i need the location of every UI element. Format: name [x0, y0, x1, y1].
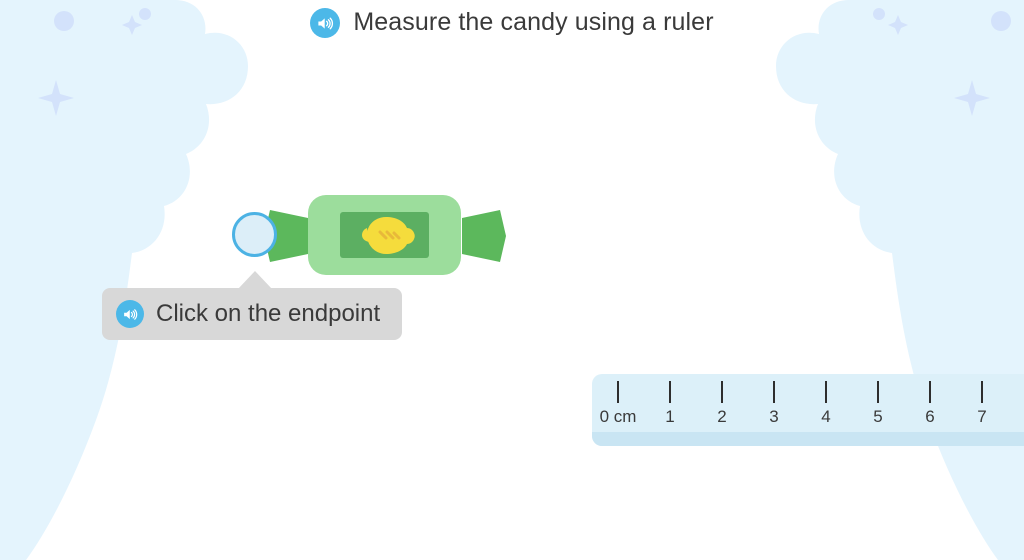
speaker-icon[interactable] — [310, 8, 340, 38]
ruler-label: 5 — [873, 407, 882, 427]
prompt-bar: Measure the candy using a ruler — [0, 8, 1024, 38]
cloud-left-shape — [0, 0, 248, 560]
ruler-tick — [929, 381, 931, 403]
ruler-tick — [981, 381, 983, 403]
ruler-label: 2 — [717, 407, 726, 427]
ruler-label: 3 — [769, 407, 778, 427]
ruler-tick — [825, 381, 827, 403]
ruler-label: 7 — [977, 407, 986, 427]
candy-object[interactable] — [250, 188, 520, 284]
ruler-base-strip — [592, 432, 1024, 446]
hint-tooltip[interactable]: Click on the endpoint — [102, 288, 402, 340]
ruler-tick — [721, 381, 723, 403]
ruler-tick — [773, 381, 775, 403]
ruler-tick — [669, 381, 671, 403]
ruler-tool[interactable]: 0 cm1234567 — [592, 374, 1024, 446]
candy-wrapper-right — [462, 194, 506, 278]
ruler-label: 6 — [925, 407, 934, 427]
endpoint-marker[interactable] — [232, 212, 277, 257]
decor-sparkle — [38, 80, 74, 116]
page-title: Measure the candy using a ruler — [353, 9, 713, 37]
cloud-right-shape — [776, 0, 1024, 560]
ruler-label: 0 cm — [600, 407, 637, 427]
ruler-label: 4 — [821, 407, 830, 427]
ruler-tick — [617, 381, 619, 403]
tooltip-pointer — [238, 271, 272, 289]
tooltip-label: Click on the endpoint — [156, 301, 380, 327]
activity-stage: Measure the candy using a ruler — [0, 0, 1024, 560]
speaker-icon[interactable] — [116, 300, 144, 328]
decor-sparkle — [954, 80, 990, 116]
ruler-label: 1 — [665, 407, 674, 427]
ruler-tick — [877, 381, 879, 403]
